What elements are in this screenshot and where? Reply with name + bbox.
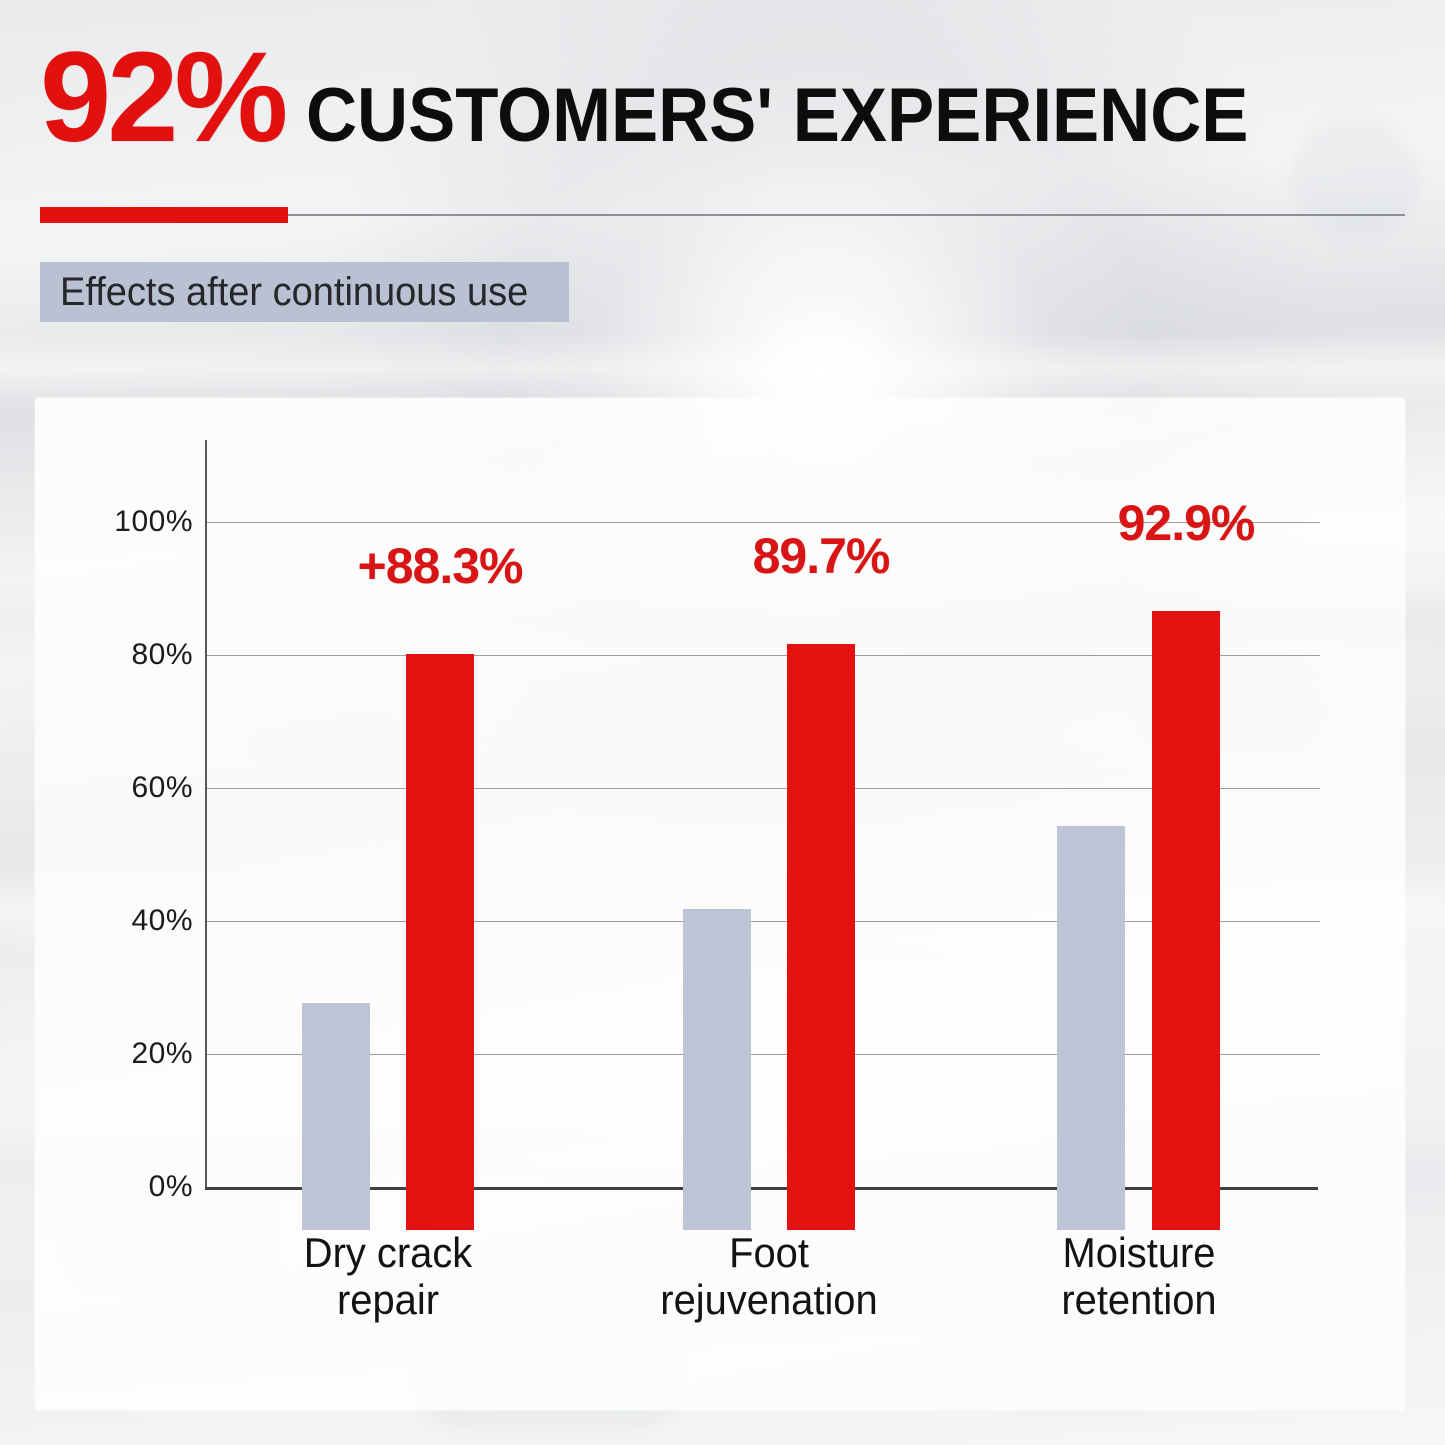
y-axis-tick-label: 80% [103,638,193,672]
bar-value-label: 92.9% [1118,494,1255,552]
category-label-line: repair [198,1276,578,1323]
bar-after [787,644,855,1230]
bar-before [1057,826,1125,1230]
bar-value-label: +88.3% [358,537,523,595]
y-axis-tick-label: 100% [103,505,193,539]
bar-chart: 0%20%40%60%80%100% +88.3%89.7%92.9% Dry … [205,440,1350,1230]
category-label-line: Moisture [949,1229,1329,1276]
category-label-line: retention [949,1276,1329,1323]
headline-percent: 92% [40,34,284,162]
subtitle-band: Effects after continuous use [40,262,569,322]
y-axis-tick-label: 60% [103,771,193,805]
bar-before [683,909,751,1230]
category-label: Dry crackrepair [198,1229,578,1323]
subtitle-label: Effects after continuous use [60,272,528,312]
category-label-line: Foot [579,1229,959,1276]
bar-value-label: 89.7% [753,527,890,585]
bar-after [1152,611,1220,1230]
headline-text: CUSTOMERS' EXPERIENCE [306,78,1248,154]
y-axis-ticks: 0%20%40%60%80%100% [97,440,193,1189]
y-axis-tick-label: 40% [103,904,193,938]
bar-before [302,1003,370,1230]
category-label-line: rejuvenation [579,1276,959,1323]
title-divider [40,206,1405,224]
category-label: Footrejuvenation [579,1229,959,1323]
page-title: 92% CUSTOMERS' EXPERIENCE [40,34,1320,162]
y-axis-tick-label: 20% [103,1037,193,1071]
category-label: Moistureretention [949,1229,1329,1323]
bar-after [406,654,474,1230]
divider-thin-line [288,214,1405,216]
divider-accent-bar [40,207,288,223]
category-label-line: Dry crack [198,1229,578,1276]
chart-panel: 0%20%40%60%80%100% +88.3%89.7%92.9% Dry … [35,398,1405,1410]
y-axis-tick-label: 0% [103,1170,193,1204]
y-axis-line [205,440,207,1189]
